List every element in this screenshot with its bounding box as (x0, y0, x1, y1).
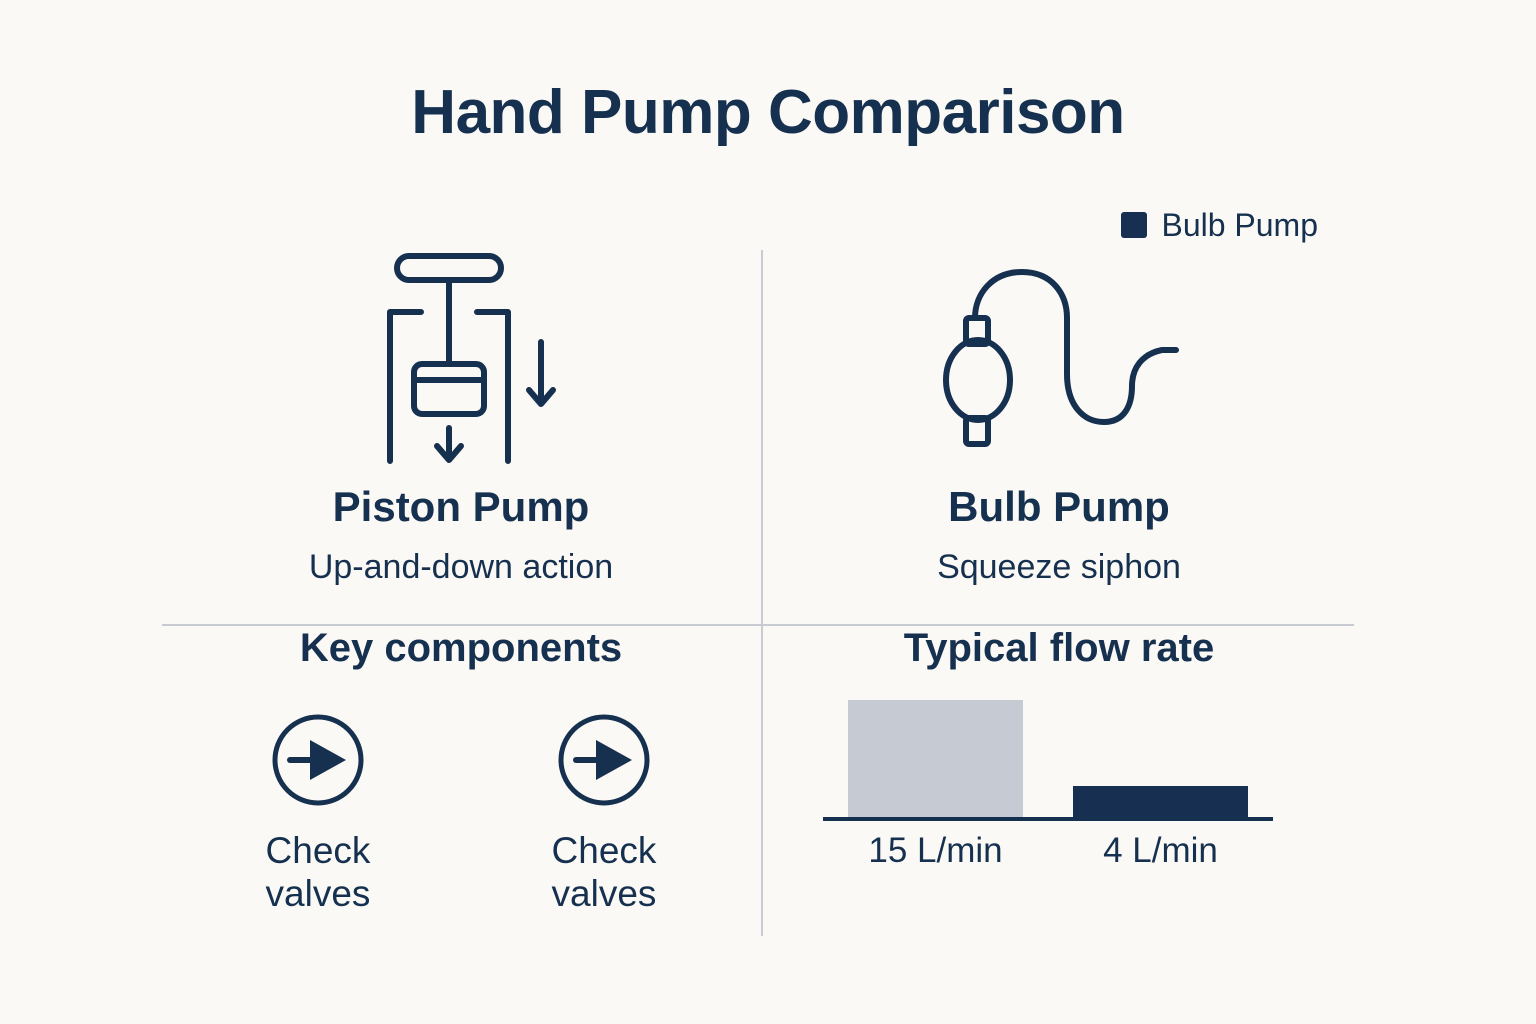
flow-rate-heading: Typical flow rate (764, 628, 1354, 668)
chart-bar-label: 4 L/min (1048, 833, 1273, 868)
vertical-divider (761, 250, 763, 936)
chart-bar (848, 700, 1024, 817)
chart-plot-area (823, 700, 1273, 817)
page-title: Hand Pump Comparison (0, 82, 1536, 144)
chart-legend: Bulb Pump (1121, 209, 1318, 241)
chart-bar-label: 15 L/min (823, 833, 1048, 868)
flow-rate-panel: Typical flow rate 15 L/min4 L/min (764, 628, 1354, 938)
bulb-pump-icon (914, 250, 1204, 468)
legend-swatch-bulb-pump (1121, 212, 1147, 238)
key-component-label: Check valves (266, 830, 371, 916)
piston-pump-icon (361, 250, 561, 468)
key-component-item: Check valves (519, 712, 689, 916)
infographic-canvas: Hand Pump Comparison Bulb Pump (0, 0, 1536, 1024)
key-component-label: Check valves (552, 830, 657, 916)
piston-pump-subtitle: Up-and-down action (162, 550, 760, 584)
check-valve-arrow-icon (270, 712, 366, 808)
chart-value-labels: 15 L/min4 L/min (823, 833, 1273, 868)
key-components-heading: Key components (162, 628, 760, 668)
chart-baseline-axis (823, 817, 1273, 821)
key-components-panel: Key components Check valves Check valves (162, 628, 760, 938)
flow-rate-chart: 15 L/min4 L/min (764, 700, 1354, 924)
bulb-pump-subtitle: Squeeze siphon (764, 550, 1354, 584)
chart-bar (1073, 786, 1249, 817)
piston-pump-panel: Piston Pump Up-and-down action (162, 250, 760, 622)
bulb-pump-name: Bulb Pump (764, 486, 1354, 528)
key-components-list: Check valves Check valves (162, 712, 760, 916)
check-valve-arrow-icon (556, 712, 652, 808)
legend-label-bulb-pump: Bulb Pump (1161, 209, 1318, 241)
piston-pump-name: Piston Pump (162, 486, 760, 528)
key-component-item: Check valves (233, 712, 403, 916)
bulb-pump-illustration (764, 250, 1354, 468)
piston-pump-illustration (162, 250, 760, 468)
bulb-pump-panel: Bulb Pump Squeeze siphon (764, 250, 1354, 622)
